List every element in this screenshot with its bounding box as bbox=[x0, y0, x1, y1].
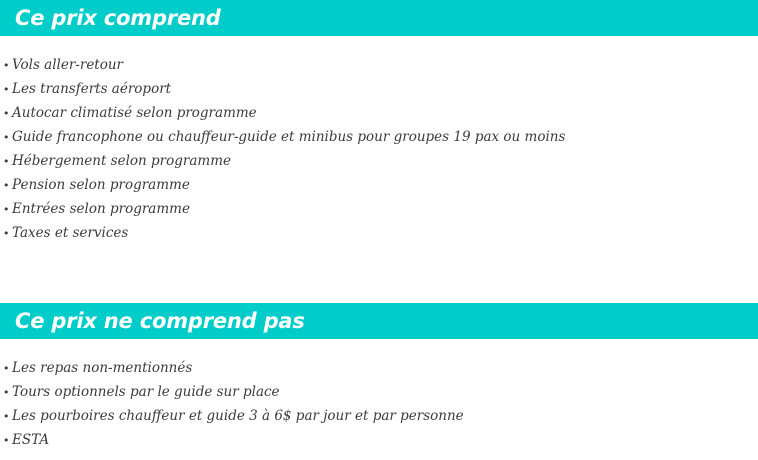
list-item: • Les pourboires chauffeur et guide 3 à … bbox=[0, 404, 758, 428]
bullet-icon: • bbox=[3, 222, 12, 246]
list-item-text: Les pourboires chauffeur et guide 3 à 6$… bbox=[12, 404, 464, 428]
bullet-icon: • bbox=[3, 150, 12, 174]
bullet-icon: • bbox=[3, 174, 12, 198]
section-header-excluded: Ce prix ne comprend pas bbox=[0, 303, 758, 339]
list-item-text: Les transferts aéroport bbox=[12, 77, 171, 101]
bullet-icon: • bbox=[3, 126, 12, 150]
list-item: • Guide francophone ou chauffeur-guide e… bbox=[0, 125, 758, 149]
list-item-text: Entrées selon programme bbox=[12, 197, 190, 221]
section-title: Ce prix comprend bbox=[15, 8, 221, 29]
bullet-icon: • bbox=[3, 381, 12, 405]
list-item: • Vols aller-retour bbox=[0, 53, 758, 77]
list-item: • Les repas non-mentionnés bbox=[0, 356, 758, 380]
list-item: • Entrées selon programme bbox=[0, 197, 758, 221]
bullet-icon: • bbox=[3, 54, 12, 78]
spacer bbox=[0, 36, 758, 53]
bullet-icon: • bbox=[3, 357, 12, 381]
list-item-text: ESTA bbox=[12, 428, 49, 452]
list-item: • Taxes et services bbox=[0, 221, 758, 245]
list-item-text: Guide francophone ou chauffeur-guide et … bbox=[12, 125, 565, 149]
excluded-list: • Les repas non-mentionnés • Tours optio… bbox=[0, 356, 758, 452]
section-title: Ce prix ne comprend pas bbox=[15, 311, 305, 332]
list-item: • Autocar climatisé selon programme bbox=[0, 101, 758, 125]
spacer bbox=[0, 245, 758, 303]
spacer bbox=[0, 339, 758, 356]
list-item: • Tours optionnels par le guide sur plac… bbox=[0, 380, 758, 404]
bullet-icon: • bbox=[3, 405, 12, 429]
list-item-text: Pension selon programme bbox=[12, 173, 190, 197]
list-item-text: Autocar climatisé selon programme bbox=[12, 101, 257, 125]
list-item-text: Taxes et services bbox=[12, 221, 128, 245]
list-item: • Hébergement selon programme bbox=[0, 149, 758, 173]
list-item-text: Tours optionnels par le guide sur place bbox=[12, 380, 280, 404]
list-item-text: Les repas non-mentionnés bbox=[12, 356, 192, 380]
document-page: Ce prix comprend • Vols aller-retour • L… bbox=[0, 0, 758, 460]
included-list: • Vols aller-retour • Les transferts aér… bbox=[0, 53, 758, 245]
bullet-icon: • bbox=[3, 102, 12, 126]
bullet-icon: • bbox=[3, 198, 12, 222]
bullet-icon: • bbox=[3, 78, 12, 102]
section-header-included: Ce prix comprend bbox=[0, 0, 758, 36]
list-item-text: Vols aller-retour bbox=[12, 53, 123, 77]
list-item-text: Hébergement selon programme bbox=[12, 149, 231, 173]
list-item: • Les transferts aéroport bbox=[0, 77, 758, 101]
bullet-icon: • bbox=[3, 429, 12, 453]
list-item: • ESTA bbox=[0, 428, 758, 452]
list-item: • Pension selon programme bbox=[0, 173, 758, 197]
